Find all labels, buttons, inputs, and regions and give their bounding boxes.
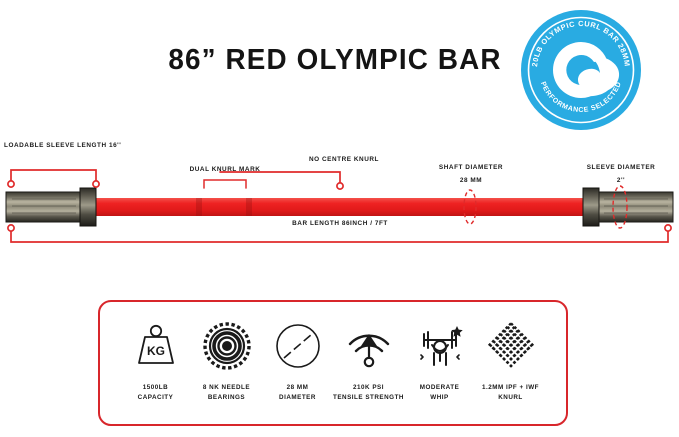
- feature-line1: 8 NK NEEDLE: [203, 383, 250, 393]
- needle-bearing-icon: [203, 316, 251, 376]
- feature-line2: DIAMETER: [279, 393, 316, 403]
- feature-line1: 1.2MM IPF + IWF: [482, 383, 539, 393]
- infographic-canvas: 86” RED OLYMPIC BAR 20LB OLYMPIC CURL BA…: [0, 0, 679, 437]
- feature-line1: MODERATE: [420, 383, 460, 393]
- feature-caption: 28 MM DIAMETER: [279, 383, 316, 403]
- feature-caption: MODERATE WHIP: [420, 383, 460, 403]
- label-sleeve-diameter-title: SLEEVE DIAMETER: [587, 164, 656, 171]
- barbell-diagram: LOADABLE SLEEVE LENGTH 16'' DUAL KNURL M…: [0, 148, 679, 268]
- feature-line2: TENSILE STRENGTH: [333, 393, 404, 403]
- feature-caption: 1.2MM IPF + IWF KNURL: [482, 383, 539, 403]
- right-collar: [583, 188, 599, 226]
- feature-item: 210K PSI TENSILE STRENGTH: [333, 316, 404, 403]
- brand-badge: 20LB OLYMPIC CURL BAR 28MM PERFORMANCE S…: [517, 6, 645, 134]
- right-sleeve: [599, 192, 673, 222]
- kg-weight-icon: KG: [131, 316, 181, 376]
- label-bar-length: BAR LENGTH 86INCH / 7FT: [292, 220, 388, 227]
- circle-diameter-icon: [274, 316, 322, 376]
- label-sleeve-diameter-value: 2'': [617, 177, 625, 184]
- feature-line1: 28 MM: [279, 383, 316, 393]
- label-dual-knurl: DUAL KNURL MARK: [190, 166, 261, 173]
- loadable-sleeve-bracket: [11, 170, 96, 182]
- kg-weight-icon-text: KG: [147, 344, 165, 358]
- feature-item: KG 1500LB CAPACITY: [120, 316, 191, 403]
- label-no-centre-knurl: NO CENTRE KNURL: [309, 156, 379, 163]
- feature-item: 8 NK NEEDLE BEARINGS: [191, 316, 262, 403]
- feature-line1: 1500LB: [138, 383, 174, 393]
- dual-knurl-bracket: [204, 180, 246, 188]
- feature-caption: 8 NK NEEDLE BEARINGS: [203, 383, 250, 403]
- feature-item: MODERATE WHIP: [404, 316, 475, 403]
- label-loadable-sleeve: LOADABLE SLEEVE LENGTH 16'': [4, 142, 121, 149]
- label-shaft-diameter-title: SHAFT DIAMETER: [439, 164, 503, 171]
- feature-line1: 210K PSI: [333, 383, 404, 393]
- feature-item: 1.2MM IPF + IWF KNURL: [475, 316, 546, 403]
- left-collar: [80, 188, 96, 226]
- lifter-whip-icon: [412, 316, 468, 376]
- bar-length-measure: [11, 230, 668, 242]
- label-shaft-diameter-value: 28 MM: [460, 177, 482, 184]
- feature-line2: BEARINGS: [203, 393, 250, 403]
- feature-line2: KNURL: [482, 393, 539, 403]
- left-sleeve: [6, 192, 80, 222]
- feature-caption: 1500LB CAPACITY: [138, 383, 174, 403]
- feature-item: 28 MM DIAMETER: [262, 316, 333, 403]
- feature-panel: KG 1500LB CAPACITY 8 NK NEEDLE: [98, 300, 568, 426]
- feature-caption: 210K PSI TENSILE STRENGTH: [333, 383, 404, 403]
- page-title: 86” RED OLYMPIC BAR: [157, 44, 512, 77]
- bar-shaft: [96, 198, 583, 216]
- feature-line2: WHIP: [420, 393, 460, 403]
- tensile-strength-icon: [344, 316, 394, 376]
- knurl-crosshatch-icon: [486, 316, 536, 376]
- no-centre-knurl-leader: [220, 172, 340, 184]
- feature-line2: CAPACITY: [138, 393, 174, 403]
